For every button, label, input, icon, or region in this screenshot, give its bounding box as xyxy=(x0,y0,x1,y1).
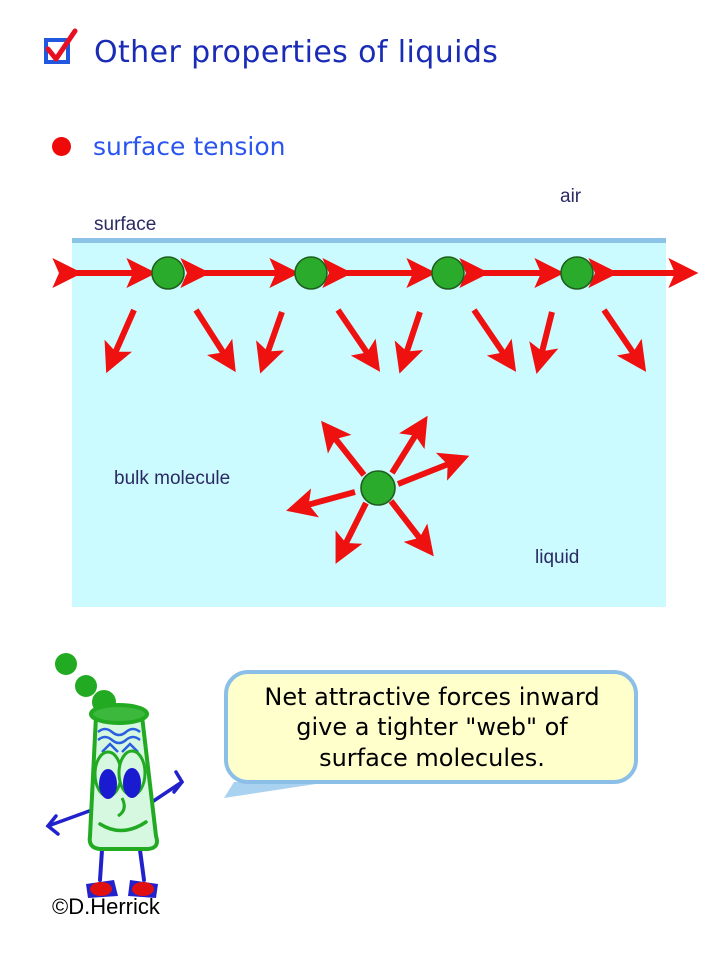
bulk-molecule xyxy=(361,471,395,505)
page-title: Other properties of liquids xyxy=(94,35,498,70)
surface-molecule xyxy=(432,257,464,289)
bubble-icon xyxy=(55,653,77,675)
erlenmeyer-flask-character xyxy=(30,640,230,910)
label-liquid: liquid xyxy=(535,547,579,568)
label-air: air xyxy=(560,186,582,207)
mascot-svg xyxy=(30,640,230,910)
pupil-right xyxy=(123,768,141,798)
hand-right xyxy=(174,772,182,792)
slide-title-row: Other properties of liquids xyxy=(40,26,498,78)
pupil-left xyxy=(99,769,117,799)
checkbox-checked-icon xyxy=(40,33,78,71)
callout-bubble: Net attractive forces inward give a tigh… xyxy=(222,668,642,808)
label-surface: surface xyxy=(94,214,156,235)
surface-tension-diagram: air surface xyxy=(0,170,720,620)
flask-rim xyxy=(91,705,147,723)
checkbox-checkmark xyxy=(40,28,78,68)
callout-shape xyxy=(222,668,642,808)
surface-line xyxy=(72,238,666,243)
label-bulk-molecule: bulk molecule xyxy=(114,468,230,489)
surface-molecule xyxy=(295,257,327,289)
red-dot-bullet-icon xyxy=(52,137,71,156)
copyright-label: ©D.Herrick xyxy=(52,894,160,920)
bullet-row-surface-tension: surface tension xyxy=(52,132,285,161)
leg-right xyxy=(140,850,144,880)
callout-body xyxy=(226,672,636,782)
mascot-legs xyxy=(100,850,144,880)
surface-molecule xyxy=(152,257,184,289)
diagram-svg: air surface xyxy=(0,170,720,620)
slide-canvas: Other properties of liquids surface tens… xyxy=(0,0,720,960)
bullet-label: surface tension xyxy=(93,132,285,161)
leg-left xyxy=(100,850,102,880)
bubble-icon xyxy=(75,675,97,697)
surface-molecule xyxy=(561,257,593,289)
